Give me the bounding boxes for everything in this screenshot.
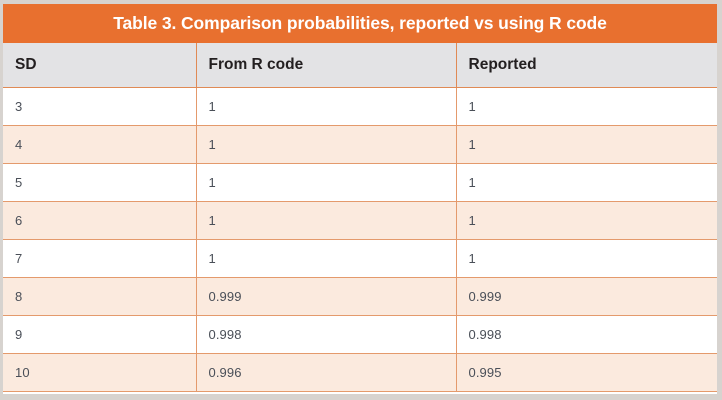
table-row: 6 1 1	[3, 201, 717, 239]
cell-reported: 0.998	[456, 315, 717, 353]
cell-reported: 1	[456, 163, 717, 201]
cell-from-r: 1	[196, 201, 456, 239]
cell-reported: 1	[456, 239, 717, 277]
column-header-reported: Reported	[456, 43, 717, 87]
cell-sd: 4	[3, 125, 196, 163]
table-row: 8 0.999 0.999	[3, 277, 717, 315]
cell-sd: 9	[3, 315, 196, 353]
column-header-sd: SD	[3, 43, 196, 87]
column-header-from-r-code: From R code	[196, 43, 456, 87]
page-canvas: Table 3. Comparison probabilities, repor…	[0, 0, 722, 400]
table-row: 7 1 1	[3, 239, 717, 277]
table-row: 3 1 1	[3, 87, 717, 125]
cell-from-r: 1	[196, 163, 456, 201]
table-body: 3 1 1 4 1 1 5 1 1 6 1 1	[3, 87, 717, 391]
header-row: SD From R code Reported	[3, 43, 717, 87]
table-caption: Table 3. Comparison probabilities, repor…	[3, 4, 717, 43]
cell-reported: 1	[456, 201, 717, 239]
cell-sd: 7	[3, 239, 196, 277]
cell-sd: 10	[3, 353, 196, 391]
cell-sd: 6	[3, 201, 196, 239]
cell-reported: 0.999	[456, 277, 717, 315]
cell-from-r: 0.999	[196, 277, 456, 315]
cell-reported: 0.995	[456, 353, 717, 391]
cell-from-r: 1	[196, 239, 456, 277]
cell-from-r: 0.998	[196, 315, 456, 353]
table-row: 5 1 1	[3, 163, 717, 201]
cell-sd: 3	[3, 87, 196, 125]
comparison-probabilities-table: SD From R code Reported 3 1 1 4 1 1 5	[3, 43, 717, 392]
table-row: 9 0.998 0.998	[3, 315, 717, 353]
cell-from-r: 0.996	[196, 353, 456, 391]
table-row: 4 1 1	[3, 125, 717, 163]
table-3-container: Table 3. Comparison probabilities, repor…	[3, 4, 717, 394]
table-header: SD From R code Reported	[3, 43, 717, 87]
cell-sd: 5	[3, 163, 196, 201]
cell-from-r: 1	[196, 125, 456, 163]
cell-from-r: 1	[196, 87, 456, 125]
cell-reported: 1	[456, 125, 717, 163]
table-row: 10 0.996 0.995	[3, 353, 717, 391]
cell-reported: 1	[456, 87, 717, 125]
cell-sd: 8	[3, 277, 196, 315]
